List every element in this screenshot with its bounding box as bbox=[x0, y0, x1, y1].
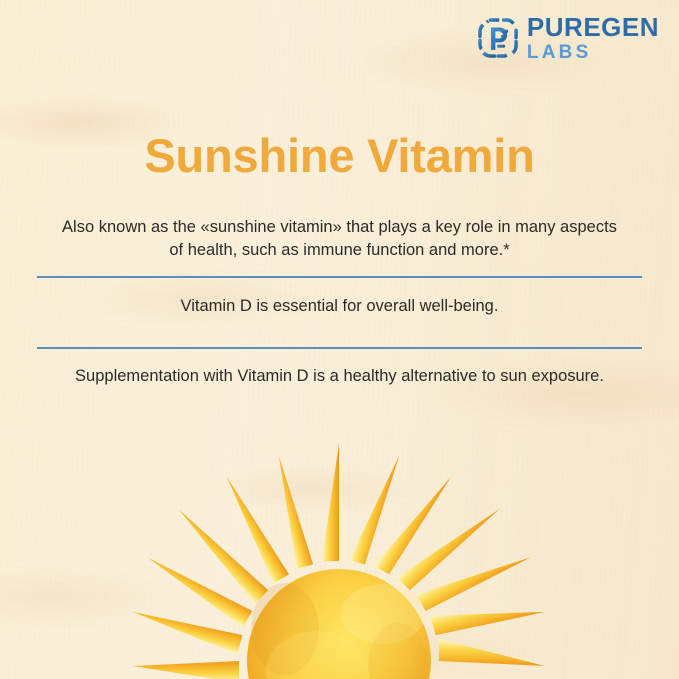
sun-disc bbox=[247, 569, 431, 679]
watercolor-sun-icon bbox=[0, 439, 679, 679]
copy-block: Also known as the «sunshine vitamin» tha… bbox=[0, 216, 679, 389]
copy-intro: Also known as the «sunshine vitamin» tha… bbox=[0, 216, 679, 263]
copy-middle: Vitamin D is essential for overall well-… bbox=[0, 278, 679, 334]
brand-name-primary: PUREGEN bbox=[527, 14, 659, 40]
copy-outro: Supplementation with Vitamin D is a heal… bbox=[0, 349, 679, 388]
page-title: Sunshine Vitamin bbox=[0, 128, 679, 183]
poster-canvas: PUREGEN LABS Sunshine Vitamin Also known… bbox=[0, 0, 679, 679]
brand-name-secondary: LABS bbox=[527, 43, 659, 62]
puregen-logo-mark-icon bbox=[476, 16, 520, 60]
brand-logo: PUREGEN LABS bbox=[476, 14, 659, 62]
brand-wordmark: PUREGEN LABS bbox=[527, 14, 659, 62]
